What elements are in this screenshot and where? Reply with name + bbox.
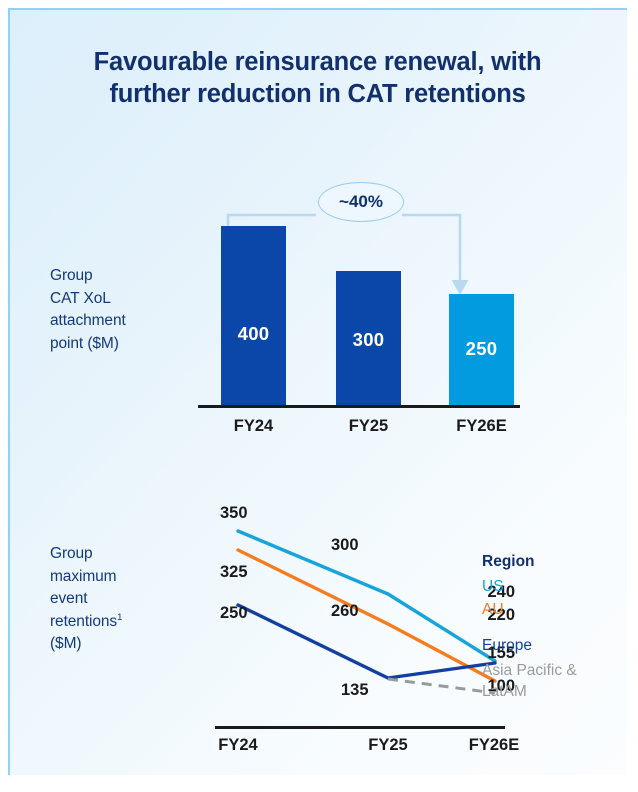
series-line-us bbox=[238, 531, 495, 661]
bar-label-line-1: Group bbox=[50, 265, 126, 288]
line-category-fy26e: FY26E bbox=[454, 736, 534, 755]
series-line-au bbox=[238, 550, 495, 681]
value-au-fy24: 325 bbox=[220, 563, 248, 582]
bar-label-line-2: CAT XoL bbox=[50, 288, 126, 311]
legend-label-asia-pacific-latam: Asia Pacific & LatAM bbox=[482, 660, 602, 702]
legend-item-us[interactable]: US bbox=[482, 576, 627, 597]
bar-fy26e-value: 250 bbox=[449, 338, 514, 360]
legend-label-europe: Europe bbox=[482, 635, 532, 656]
slide-canvas: Favourable reinsurance renewal, with fur… bbox=[8, 8, 627, 775]
bar-fy26e[interactable]: 250 FY26E bbox=[449, 294, 514, 408]
line-category-fy25: FY25 bbox=[348, 736, 428, 755]
bar-label-line-4: point ($M) bbox=[50, 333, 126, 356]
line-category-fy24: FY24 bbox=[198, 736, 278, 755]
bar-fy24-fill bbox=[221, 226, 286, 408]
value-us-fy24: 350 bbox=[220, 504, 248, 523]
line-label-line-3: event bbox=[50, 588, 122, 611]
legend-item-europe[interactable]: Europe bbox=[482, 635, 627, 656]
cat-xol-bar-chart: ~40% 400 FY24 300 FY25 250 FY26E bbox=[198, 188, 538, 436]
title-line-1: Favourable reinsurance renewal, with bbox=[94, 48, 542, 76]
value-europe-fy24: 250 bbox=[220, 604, 248, 623]
bar-fy24-value: 400 bbox=[221, 323, 286, 345]
value-us-fy25: 300 bbox=[331, 536, 359, 555]
line-label-line-5: ($M) bbox=[50, 633, 122, 656]
page-title: Favourable reinsurance renewal, with fur… bbox=[8, 46, 627, 110]
legend-item-au[interactable]: AU bbox=[482, 599, 627, 620]
value-au-fy25: 260 bbox=[331, 602, 359, 621]
series-line-europe bbox=[238, 605, 495, 678]
bar-chart-axis-label: Group CAT XoL attachment point ($M) bbox=[50, 265, 126, 355]
legend-item-asia-pacific-latam[interactable]: Asia Pacific & LatAM bbox=[482, 660, 627, 702]
legend-label-au: AU bbox=[482, 599, 504, 620]
legend-label-us: US bbox=[482, 576, 504, 597]
line-chart-axis-label: Group maximum event retentions1 ($M) bbox=[50, 543, 122, 656]
value-europe-fy25: 135 bbox=[341, 681, 369, 700]
footnote-marker: 1 bbox=[117, 611, 122, 622]
line-label-line-4: retentions1 bbox=[50, 611, 122, 634]
title-line-2: further reduction in CAT retentions bbox=[8, 78, 627, 110]
bar-fy24[interactable]: 400 FY24 bbox=[221, 226, 286, 408]
bar-label-line-3: attachment bbox=[50, 310, 126, 333]
reduction-callout-badge: ~40% bbox=[318, 182, 404, 222]
bar-fy25[interactable]: 300 FY25 bbox=[336, 271, 401, 408]
bar-chart-baseline bbox=[198, 405, 520, 408]
bar-fy25-value: 300 bbox=[336, 329, 401, 351]
bar-fy24-category: FY24 bbox=[215, 417, 292, 436]
reduction-callout-text: ~40% bbox=[339, 192, 383, 212]
region-legend: Region US AU Europe Asia Pacific & LatAM bbox=[482, 553, 627, 703]
bar-fy25-category: FY25 bbox=[330, 417, 407, 436]
line-label-line-2: maximum bbox=[50, 566, 122, 589]
legend-title: Region bbox=[482, 553, 627, 571]
line-chart-axis bbox=[215, 726, 505, 729]
line-label-line-1: Group bbox=[50, 543, 122, 566]
line-label-line-4-text: retentions bbox=[50, 613, 117, 630]
bar-fy26e-category: FY26E bbox=[443, 417, 520, 436]
